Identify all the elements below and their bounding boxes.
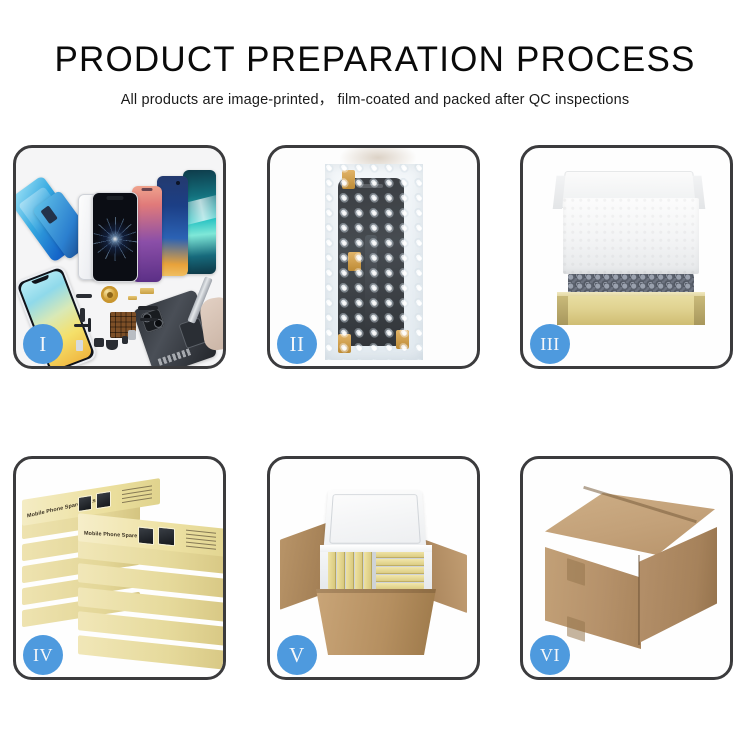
step-badge-ii: II — [277, 324, 317, 364]
yellow-box-icon — [376, 559, 424, 566]
step-numeral: IV — [33, 646, 53, 664]
box-window-icon — [96, 491, 111, 509]
yellow-box-icon — [376, 551, 424, 558]
page-subtitle: All products are image-printed， film-coa… — [0, 88, 750, 109]
step-badge-i: I — [23, 324, 63, 364]
flex-cable-icon — [140, 318, 158, 321]
gold-coil-icon — [101, 286, 118, 303]
spare-part-icon — [76, 294, 92, 298]
step-badge-iii: III — [530, 324, 570, 364]
box-window-icon — [78, 495, 92, 512]
yellow-box-icon — [376, 583, 424, 589]
yellow-box-icon — [376, 575, 424, 582]
outer-carton-icon — [316, 589, 436, 655]
carton-vertical-edge-icon — [638, 555, 640, 645]
black-glass-screen-icon — [92, 192, 138, 282]
yellow-box-icon — [337, 551, 345, 589]
panel-step-1[interactable]: I — [13, 145, 226, 369]
step-numeral: V — [289, 645, 305, 666]
gold-contact-pad-icon — [128, 296, 137, 300]
screen-burst-icon — [94, 218, 136, 260]
spare-part-icon — [94, 338, 104, 347]
spec-line — [186, 546, 216, 550]
step-numeral: III — [540, 335, 559, 353]
step-numeral: II — [290, 334, 305, 355]
panel-step-5[interactable]: V — [267, 456, 480, 680]
step-numeral: I — [39, 334, 47, 355]
spare-part-icon — [128, 330, 136, 340]
carton-left-face-icon — [545, 547, 641, 649]
styrofoam-lip-icon — [320, 545, 432, 552]
panel-step-2[interactable]: II — [267, 145, 480, 369]
header: PRODUCT PREPARATION PROCESS All products… — [0, 40, 750, 109]
spare-part-icon — [76, 340, 83, 351]
yellow-box-icon — [355, 551, 363, 589]
step-badge-iv: IV — [23, 635, 63, 675]
panel-step-4[interactable]: Mobile Phone Spare Parts Mobile Phone Sp… — [13, 456, 226, 680]
flex-cable-icon — [88, 318, 91, 332]
page-title: PRODUCT PREPARATION PROCESS — [0, 40, 750, 80]
panel-step-6[interactable]: VI — [520, 456, 733, 680]
panel-step-3[interactable]: III — [520, 145, 733, 369]
step-badge-v: V — [277, 635, 317, 675]
yellow-box-icon — [364, 551, 372, 589]
housing-label-icon — [158, 348, 192, 366]
speaker-icon — [106, 340, 118, 350]
step-badge-vi: VI — [530, 635, 570, 675]
bubble-wrap-overlay-icon — [325, 164, 423, 360]
flex-cable-icon — [138, 306, 158, 310]
spare-part-icon — [80, 308, 85, 322]
product-preparation-infographic: PRODUCT PREPARATION PROCESS All products… — [0, 0, 750, 750]
process-step-grid: I II — [13, 145, 740, 680]
yellow-box-icon — [376, 567, 424, 574]
gold-contact-pad-icon — [140, 288, 154, 294]
yellow-box-icon — [346, 551, 354, 589]
box-window-icon — [138, 527, 154, 546]
styrofoam-lid-icon — [324, 490, 427, 549]
kraft-box-front-icon — [557, 296, 705, 325]
box-window-icon — [158, 527, 175, 547]
cooler-interior-icon — [328, 551, 424, 589]
yellow-box-icon — [328, 551, 336, 589]
step-numeral: VI — [540, 646, 560, 664]
foam-sheet-icon — [563, 198, 699, 274]
